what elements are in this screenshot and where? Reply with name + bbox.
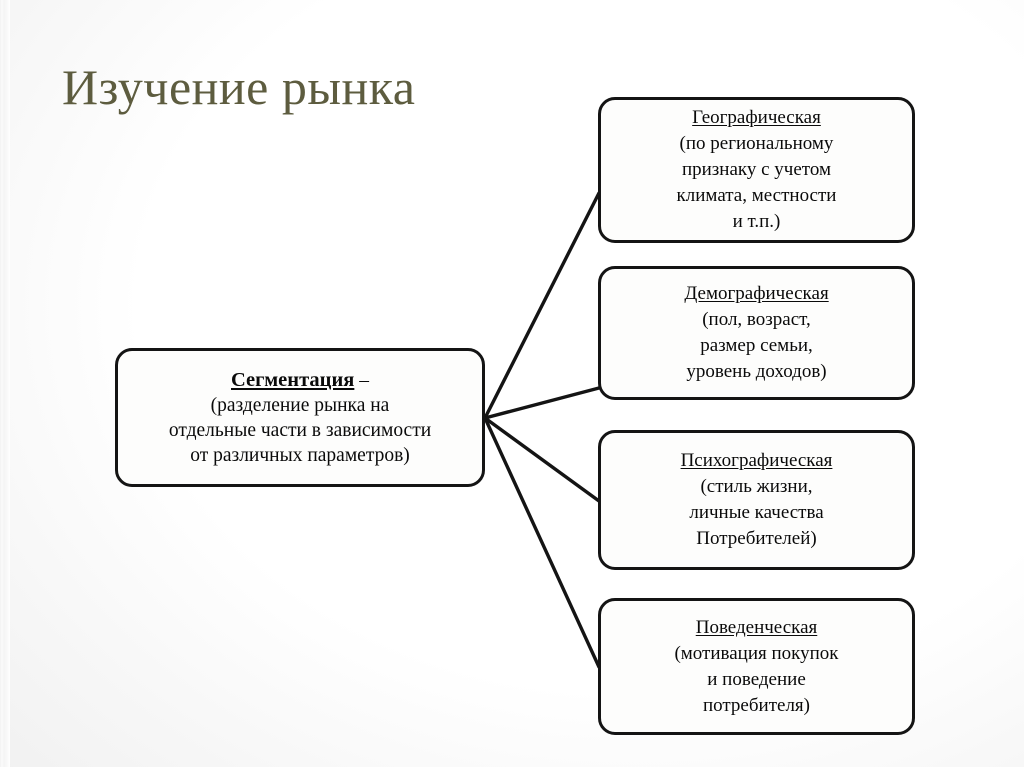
- node-demographic[interactable]: Демографическая (пол, возраст, размер се…: [598, 266, 915, 400]
- connector-to-behav: [485, 418, 599, 667]
- node-geographic-line-1: (по региональному: [680, 131, 834, 157]
- node-geographic-line-2: признаку с учетом: [682, 157, 831, 183]
- connector-to-psy: [485, 418, 599, 501]
- node-psychographic-line-1: (стиль жизни,: [700, 474, 812, 500]
- node-segmentation-line-3: от различных параметров): [190, 443, 410, 468]
- node-segmentation-title: Сегментация –: [231, 368, 369, 393]
- node-demographic-head: Демографическая: [684, 281, 828, 307]
- node-geographic[interactable]: Географическая (по региональному признак…: [598, 97, 915, 243]
- node-psychographic[interactable]: Психографическая (стиль жизни, личные ка…: [598, 430, 915, 570]
- node-geographic-line-4: и т.п.): [733, 209, 781, 235]
- node-segmentation[interactable]: Сегментация – (разделение рынка на отдел…: [115, 348, 485, 487]
- node-segmentation-dash: –: [354, 370, 369, 391]
- node-psychographic-head: Психографическая: [681, 448, 833, 474]
- node-segmentation-line-1: (разделение рынка на: [211, 393, 390, 418]
- node-demographic-line-2: размер семьи,: [700, 333, 813, 359]
- node-segmentation-head: Сегментация: [231, 369, 354, 391]
- node-behavioural-line-3: потребителя): [703, 693, 810, 719]
- node-behavioural[interactable]: Поведенческая (мотивация покупок и повед…: [598, 598, 915, 735]
- node-segmentation-line-2: отдельные части в зависимости: [169, 418, 431, 443]
- connector-to-geo: [485, 193, 599, 418]
- slide-canvas: Изучение рынка Сегментация – (разделение…: [0, 0, 1024, 767]
- node-demographic-line-1: (пол, возраст,: [702, 307, 811, 333]
- node-psychographic-line-2: личные качества: [689, 500, 823, 526]
- page-title: Изучение рынка: [62, 56, 415, 118]
- node-behavioural-line-1: (мотивация покупок: [674, 641, 838, 667]
- connector-to-demo: [485, 388, 599, 418]
- node-psychographic-line-3: Потребителей): [696, 526, 816, 552]
- node-demographic-line-3: уровень доходов): [686, 359, 826, 385]
- node-behavioural-head: Поведенческая: [696, 615, 818, 641]
- node-behavioural-line-2: и поведение: [707, 667, 806, 693]
- node-geographic-line-3: климата, местности: [677, 183, 837, 209]
- node-geographic-head: Географическая: [692, 105, 821, 131]
